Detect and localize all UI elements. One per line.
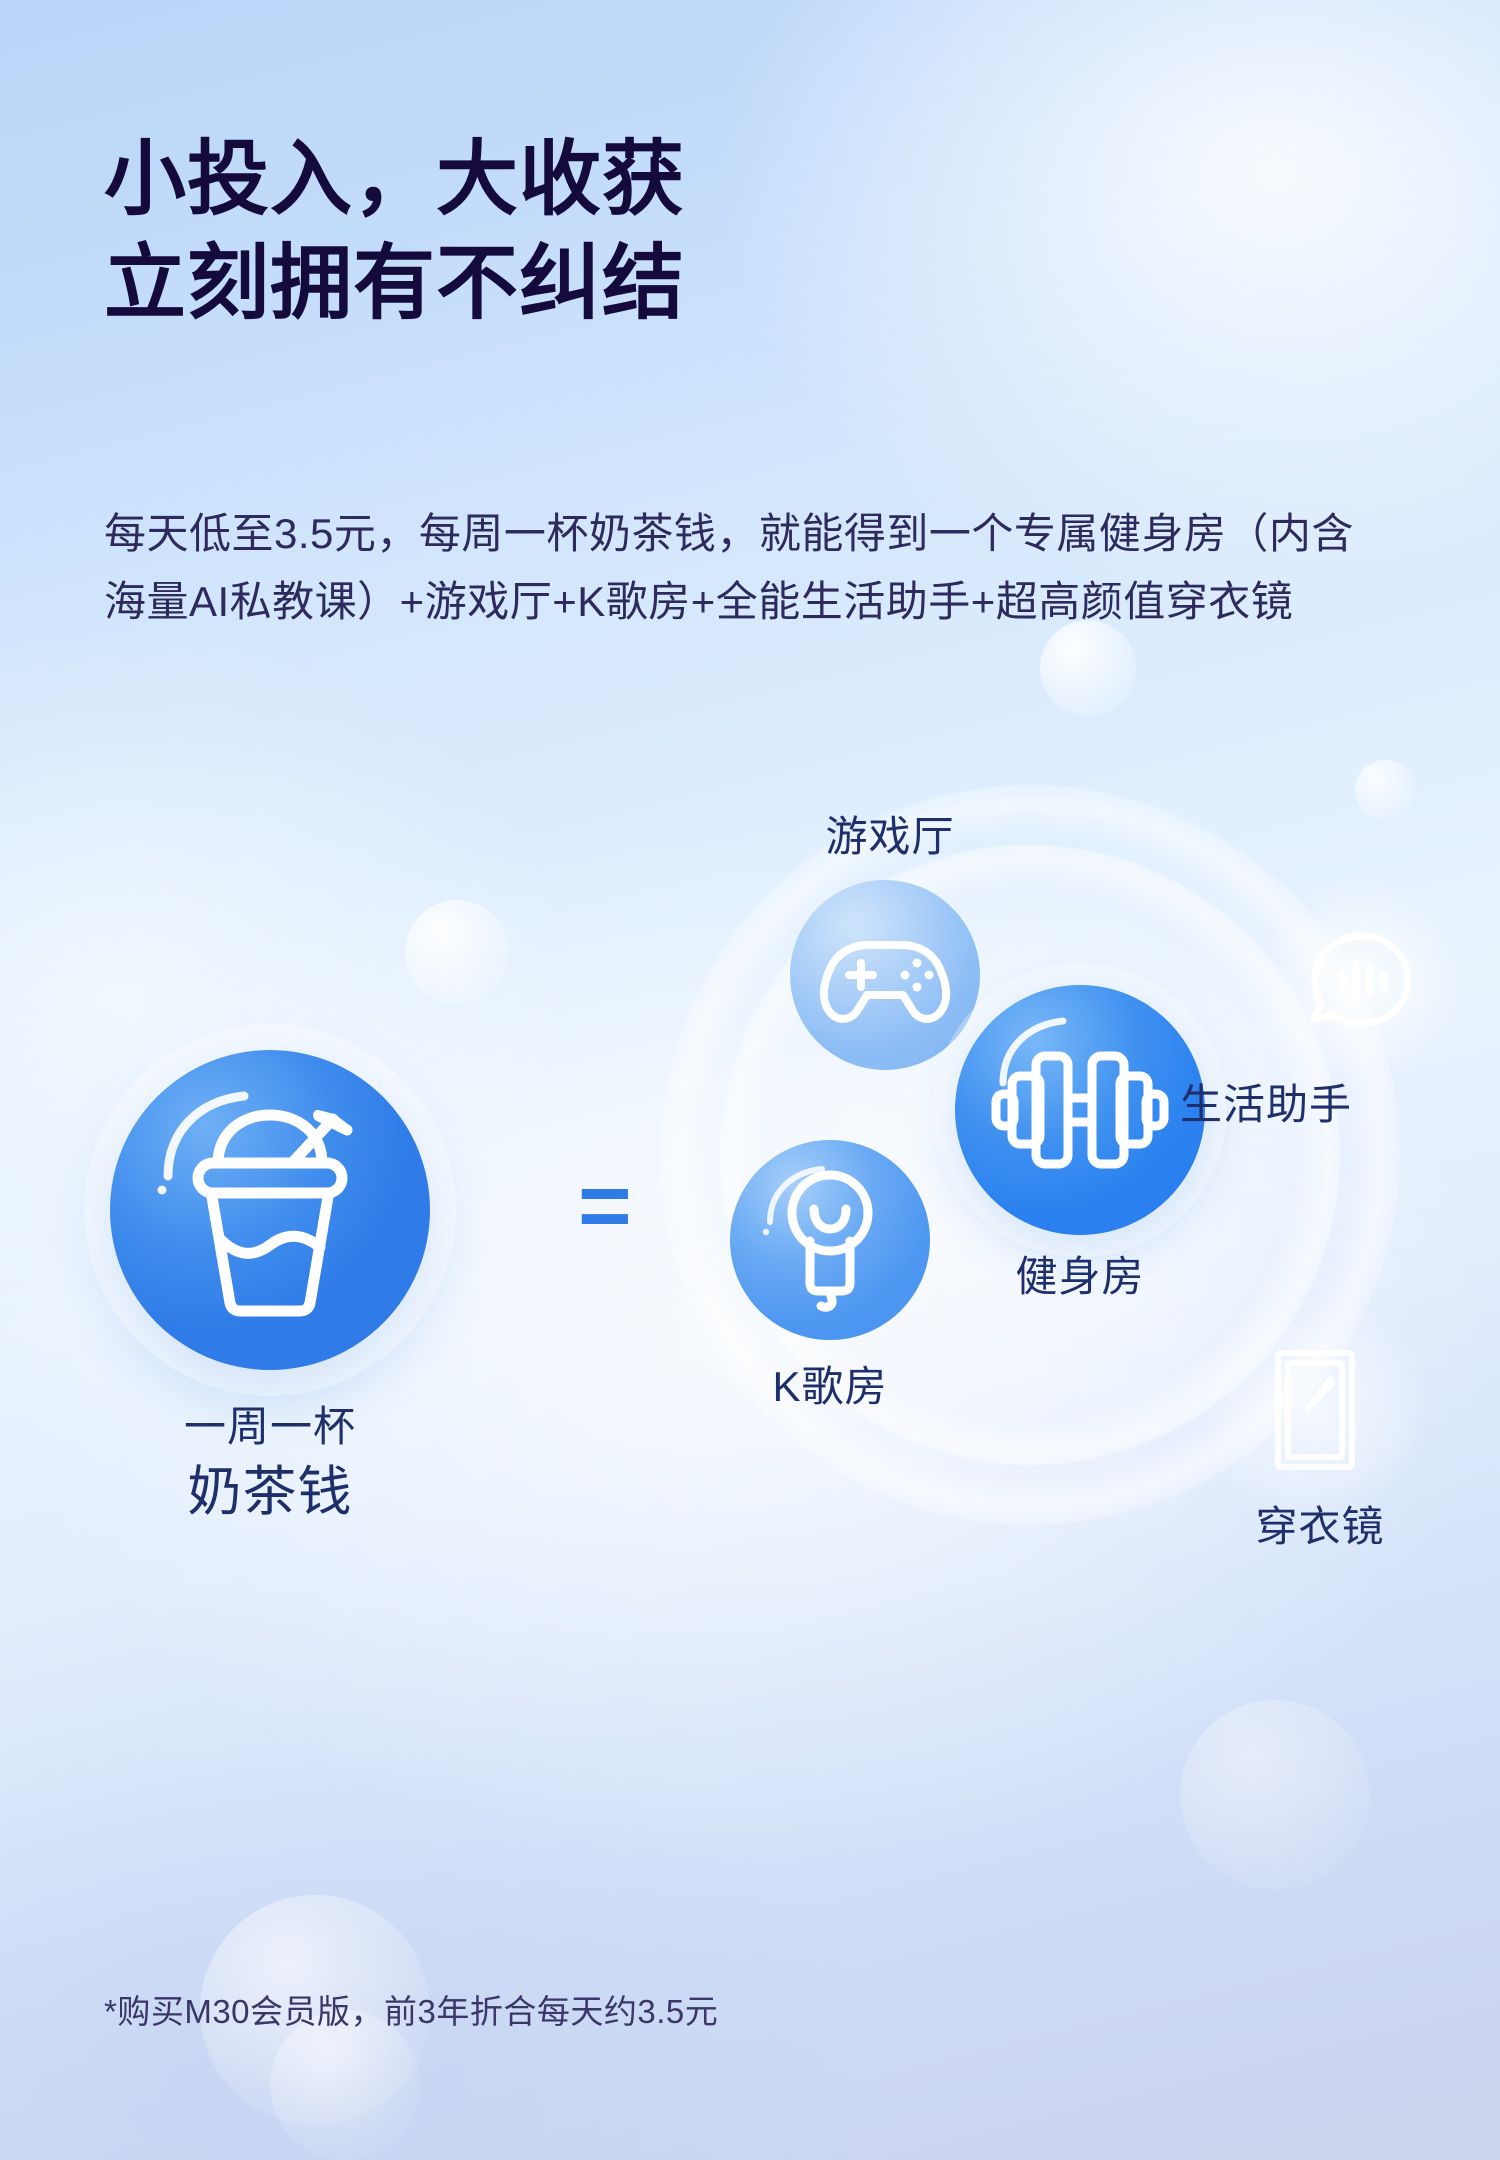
equals-sign: = bbox=[578, 1160, 632, 1252]
benefit-label-arcade: 游戏厅 bbox=[770, 810, 1010, 864]
benefit-label-karaoke: K歌房 bbox=[710, 1360, 950, 1414]
headline-line-1: 小投入，大收获 bbox=[104, 134, 685, 225]
bokeh-bubble bbox=[1355, 760, 1415, 820]
benefit-label-mirror: 穿衣镜 bbox=[1190, 1500, 1450, 1554]
footnote: *购买M30会员版，前3年折合每天约3.5元 bbox=[104, 1985, 718, 2033]
illustration: 一周一杯 奶茶钱 = 游戏厅 bbox=[0, 860, 1500, 1810]
headline: 小投入，大收获立刻拥有不纠结 bbox=[104, 128, 1004, 336]
mirror-icon bbox=[1272, 1347, 1358, 1473]
headline-line-2: 立刻拥有不纠结 bbox=[104, 238, 685, 329]
cost-caption-large: 奶茶钱 bbox=[110, 1460, 430, 1526]
promo-poster: 小投入，大收获立刻拥有不纠结 每天低至3.5元，每周一杯奶茶钱，就能得到一个专属… bbox=[0, 0, 1500, 2160]
voice-bubble-icon bbox=[1304, 926, 1416, 1034]
benefit-label-gym: 健身房 bbox=[960, 1250, 1200, 1304]
cost-orb[interactable] bbox=[110, 1050, 430, 1370]
cost-caption-small: 一周一杯 bbox=[110, 1400, 430, 1454]
benefit-label-assistant: 生活助手 bbox=[1180, 1078, 1480, 1132]
benefit-orb-karaoke[interactable] bbox=[730, 1140, 930, 1340]
benefit-orb-arcade[interactable] bbox=[790, 880, 980, 1070]
dumbbell-icon bbox=[992, 1046, 1168, 1174]
benefit-orb-mirror[interactable] bbox=[1255, 1340, 1375, 1480]
gamepad-icon bbox=[817, 921, 953, 1029]
benefit-orb-gym[interactable] bbox=[955, 985, 1205, 1235]
microphone-icon bbox=[774, 1169, 886, 1311]
description-paragraph: 每天低至3.5元，每周一杯奶茶钱，就能得到一个专属健身房（内含海量AI私教课）+… bbox=[104, 500, 1394, 636]
benefit-orb-assistant[interactable] bbox=[1295, 915, 1425, 1045]
milk-tea-cup-icon bbox=[170, 1105, 370, 1315]
